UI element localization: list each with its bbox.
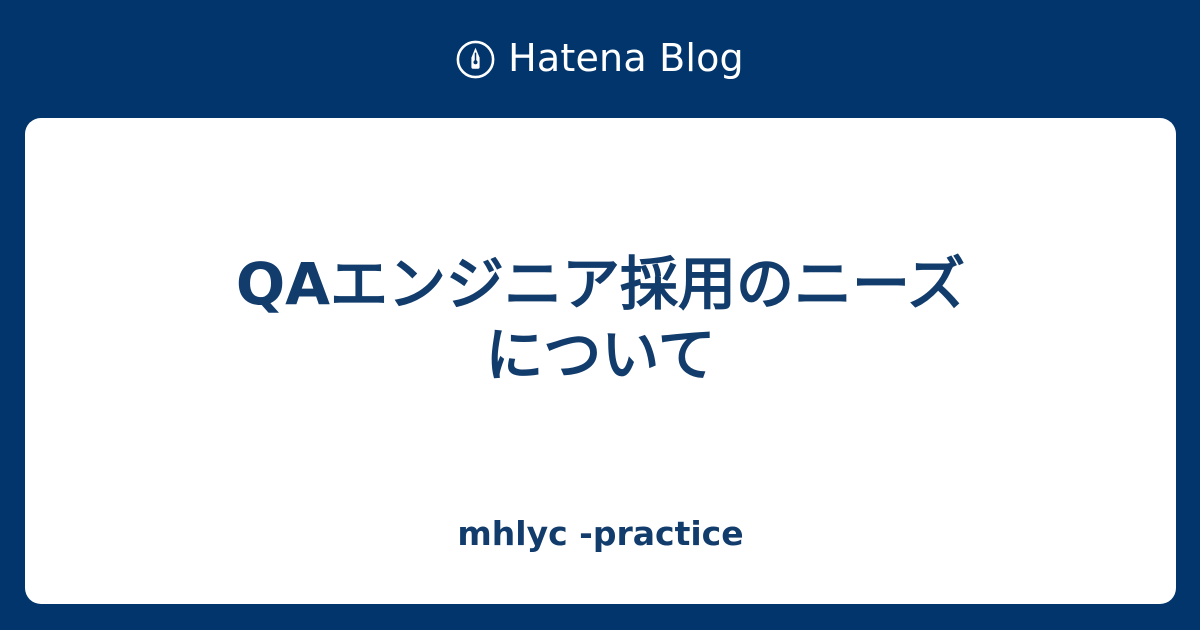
hatena-blog-wordmark: Hatena Blog [508,39,744,77]
blog-name: mhlyc -practice [101,514,1101,554]
entry-card: QAエンジニア採用のニーズについて mhlyc -practice [25,118,1176,604]
brand-header: Hatena Blog [0,0,1200,118]
hatena-pen-nib-icon [456,40,495,79]
ogp-canvas: Hatena Blog QAエンジニア採用のニーズについて mhlyc -pra… [0,0,1200,630]
entry-title: QAエンジニア採用のニーズについて [221,249,981,391]
